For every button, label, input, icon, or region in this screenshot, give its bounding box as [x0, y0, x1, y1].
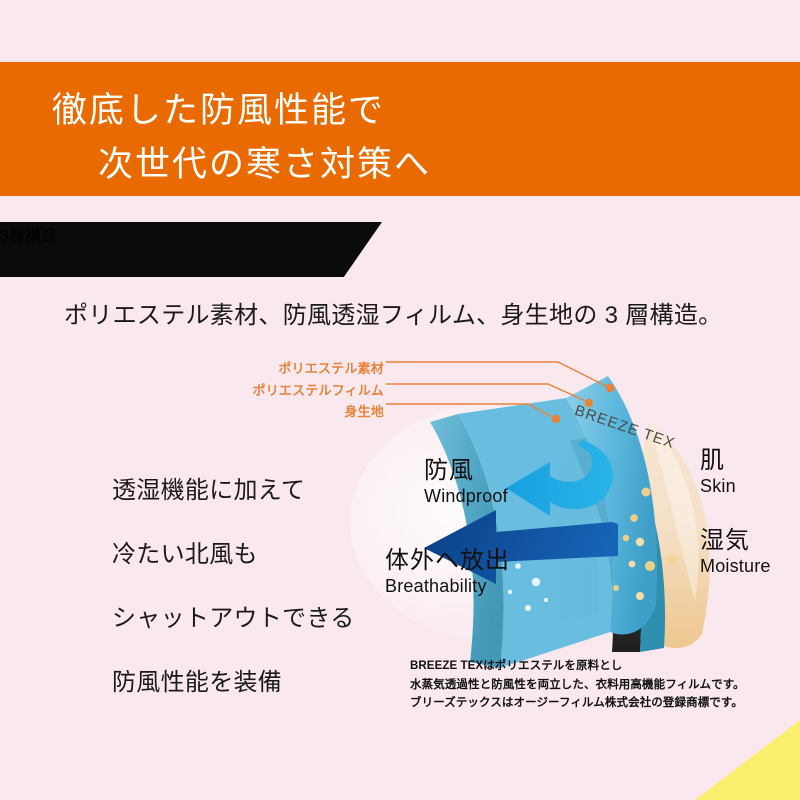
left-column-line: シャットアウトできる: [112, 598, 382, 633]
windproof-label-en: Windproof: [424, 486, 508, 507]
fineprint-line-1: BREEZE TEXはポリエステルを原料とし: [410, 657, 745, 676]
headline-line-2: 次世代の寒さ対策へ: [98, 136, 431, 187]
diagram-label-windproof: 防風 Windproof: [424, 450, 508, 507]
infographic-page: 徹底した防風性能で 次世代の寒さ対策へ 3層構造 ポリエステル素材、防風透湿フィ…: [0, 0, 800, 800]
section-tag-text-wrap: 3層構造: [0, 222, 382, 277]
callout-label-body-fabric: 身生地: [274, 401, 384, 420]
fineprint-line-3: ブリーズテックスはオージーフィルム株式会社の登録商標です。: [410, 694, 745, 713]
windproof-label-jp: 防風: [424, 450, 508, 485]
left-column-line: 冷たい北風も: [112, 534, 382, 569]
lead-sentence: ポリエステル素材、防風透湿フィルム、身生地の 3 層構造。: [64, 295, 722, 330]
headline-banner: 徹底した防風性能で 次世代の寒さ対策へ: [0, 62, 800, 196]
breathability-label-jp: 体外へ放出: [385, 540, 510, 575]
diagram-label-breathability: 体外へ放出 Breathability: [385, 540, 510, 597]
fabric-layer-diagram: [350, 352, 800, 682]
section-tag-label: 3層構造: [0, 222, 382, 246]
callout-label-polyester-film: ポリエステルフィルム: [204, 380, 384, 399]
fineprint-line-2: 水蒸気透過性と防風性を両立した、衣料用高機能フィルムです。: [410, 676, 745, 695]
legal-fineprint: BREEZE TEXはポリエステルを原料とし 水蒸気透過性と防風性を両立した、衣…: [410, 657, 745, 713]
skin-label-jp: 肌: [700, 440, 736, 475]
breathability-label-en: Breathability: [385, 576, 510, 597]
moisture-label-en: Moisture: [700, 556, 771, 577]
callout-label-polyester-material: ポリエステル素材: [234, 358, 384, 377]
headline-line-1: 徹底した防風性能で: [52, 82, 385, 133]
left-column-line: 防風性能を装備: [112, 662, 382, 697]
diagram-label-moisture: 湿気 Moisture: [700, 520, 771, 577]
skin-label-en: Skin: [700, 476, 736, 497]
diagram-label-skin: 肌 Skin: [700, 440, 736, 497]
corner-accent-wedge: [695, 720, 800, 800]
diagram-svg: [350, 352, 800, 682]
left-column-line: 透湿機能に加えて: [112, 470, 382, 505]
left-text-column: 透湿機能に加えて 冷たい北風も シャットアウトできる 防風性能を装備: [112, 470, 382, 726]
moisture-label-jp: 湿気: [700, 520, 771, 555]
